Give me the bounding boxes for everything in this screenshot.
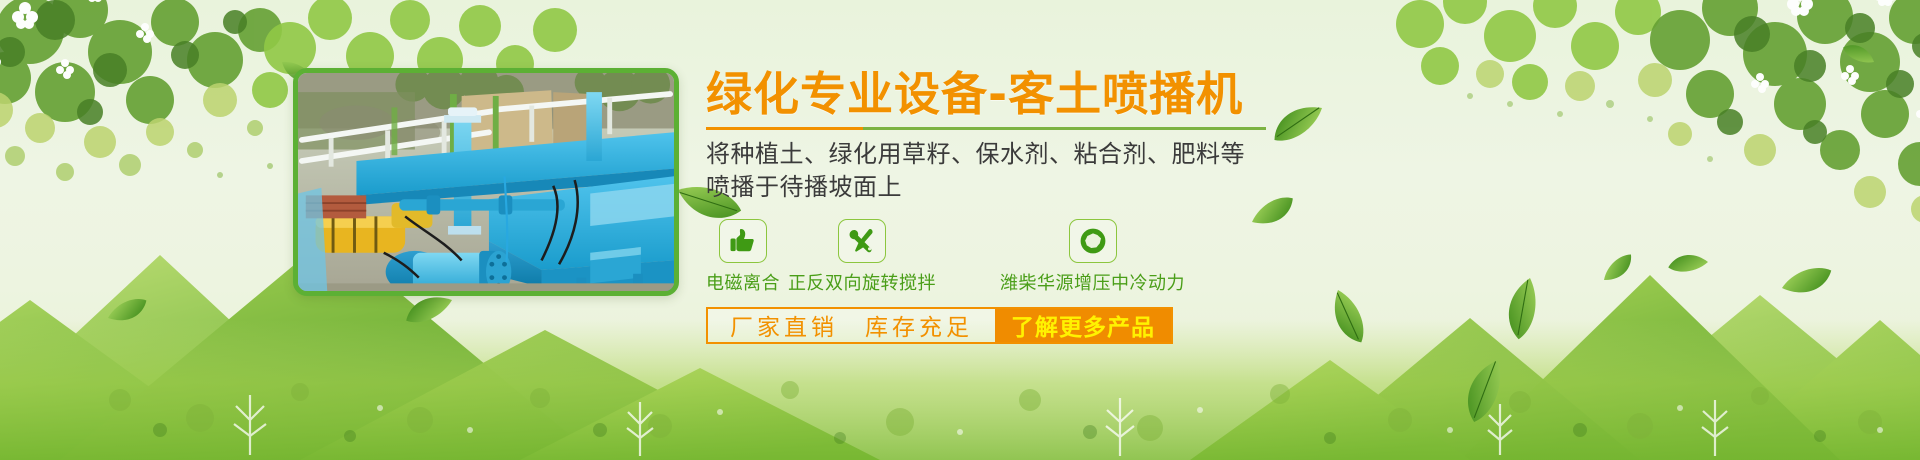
feature-item-electromagnetic-clutch: 电磁离合 (706, 219, 780, 295)
tools-icon (838, 219, 886, 263)
banner-content: 绿化专业设备-客土喷播机 将种植土、绿化用草籽、保水剂、粘合剂、肥料等 喷播于待… (706, 70, 1526, 344)
page-title: 绿化专业设备-客土喷播机 (706, 70, 1526, 118)
gear-ring-icon (1069, 219, 1117, 263)
cta-slogan: 厂家直销 库存充足 (708, 309, 995, 342)
feature-item-bidirectional-mixing: 正反双向旋转搅拌 (788, 219, 936, 295)
learn-more-button[interactable]: 了解更多产品 (995, 309, 1171, 342)
cta-bar: 厂家直销 库存充足 了解更多产品 (706, 307, 1173, 344)
feature-label: 电磁离合 (706, 269, 780, 295)
subtitle-line-2: 喷播于待播坡面上 (706, 171, 1526, 204)
feature-label: 正反双向旋转搅拌 (788, 269, 936, 295)
thumbs-up-icon (719, 219, 767, 263)
subtitle-line-1: 将种植土、绿化用草籽、保水剂、粘合剂、肥料等 (706, 138, 1526, 171)
feature-list: 电磁离合 正反双向旋转搅拌 (706, 219, 1526, 295)
feature-label: 潍柴华源增压中冷动力 (1000, 269, 1185, 295)
feature-item-weichai-power: 潍柴华源增压中冷动力 (1000, 219, 1185, 295)
product-photo (293, 68, 679, 296)
promo-banner: 绿化专业设备-客土喷播机 将种植土、绿化用草籽、保水剂、粘合剂、肥料等 喷播于待… (0, 0, 1920, 460)
title-underline (706, 127, 1266, 130)
